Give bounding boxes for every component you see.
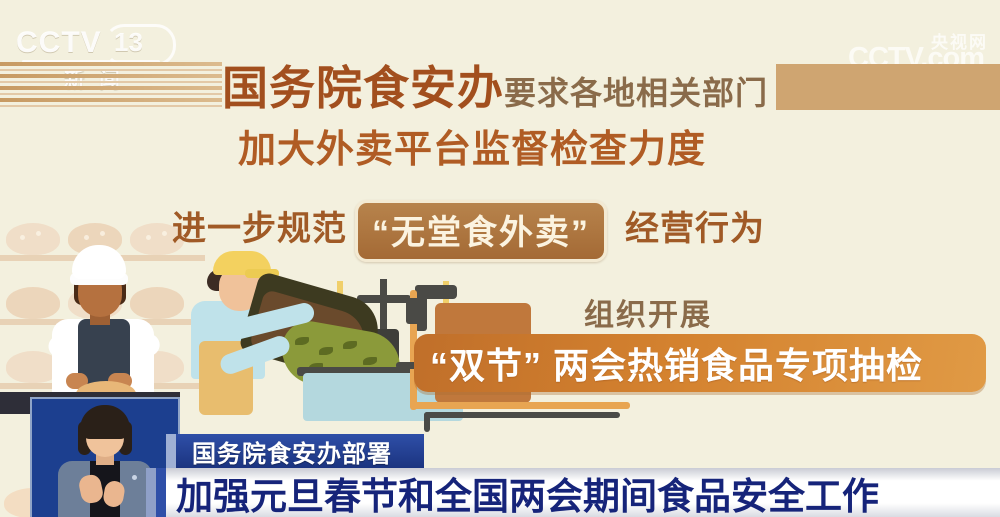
headline-line-1-strong: 国务院食安办 [222, 62, 504, 114]
special-inspection-pill-label: “双节” 两会热销食品专项抽检 [414, 337, 923, 389]
headline-line-2: 加大外卖平台监督检查力度 [238, 118, 706, 173]
decorative-stripes [0, 62, 222, 108]
lower-third-title-label: 加强元旦春节和全国两会期间食品安全工作 [166, 466, 879, 517]
title-accent-bar-inner [156, 468, 166, 517]
headline-line-1: 国务院食安办要求各地相关部门 [222, 52, 768, 118]
tan-accent-block [776, 64, 1000, 110]
logo-text: CCTV [16, 26, 166, 60]
special-inspection-pill: “双节” 两会热销食品专项抽检 [414, 334, 986, 392]
headline-line-3-lead: 进一步规范 [172, 210, 347, 248]
baker-illustration [30, 245, 180, 405]
headline-line-3-tail: 经营行为 [625, 210, 765, 248]
broadcast-frame: CCTV 13 新闻 央视网 CCTV.com 国务院食安办要求各地相关部门 加… [0, 0, 1000, 517]
lower-third-kicker-label: 国务院食安办部署 [176, 434, 392, 469]
lower-third-title: 加强元旦春节和全国两会期间食品安全工作 [166, 468, 1000, 517]
headline-line-4-lead: 组织开展 [584, 290, 712, 334]
kicker-accent-bar [166, 434, 176, 468]
lower-third-kicker: 国务院食安办部署 [176, 434, 424, 468]
no-dine-in-takeout-chip: “无堂食外卖” [355, 200, 607, 262]
title-accent-bar-outer [146, 468, 156, 517]
headline-line-1-rest: 要求各地相关部门 [504, 75, 768, 111]
logo-channel-number: 13 [114, 27, 143, 58]
headline-line-3: 进一步规范“无堂食外卖”经营行为 [172, 200, 765, 262]
